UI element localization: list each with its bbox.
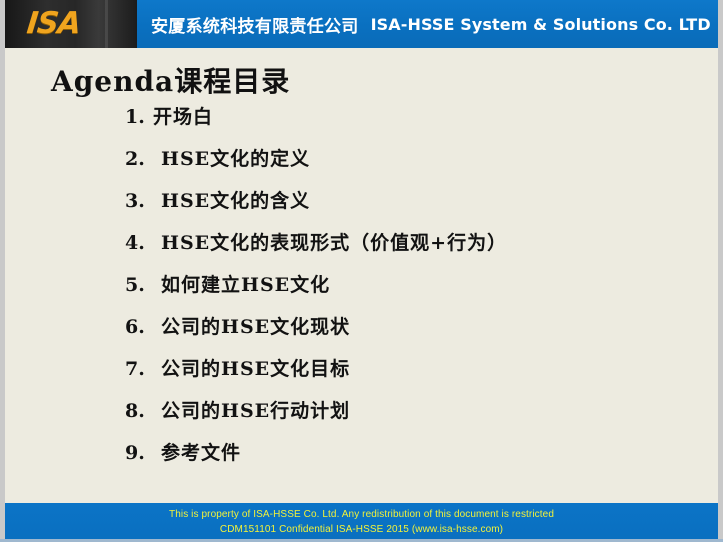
agenda-list: 1. 开场白 2. HSE文化的定义 3. HSE文化的含义 4. HSE文化的… [5, 102, 718, 480]
list-item-label: 公司的HSE行动计划 [161, 396, 350, 423]
list-item-number: 9. [125, 442, 153, 464]
slide-header: ISA 安厦系统科技有限责任公司 ISA-HSSE System & Solut… [0, 0, 723, 48]
list-item: 4. HSE文化的表现形式（价值观+行为） [5, 228, 718, 270]
list-item-number: 7. [125, 358, 153, 380]
page-title: Agenda课程目录 [51, 60, 290, 100]
isa-logo: ISA [25, 7, 82, 41]
slide-left-border [0, 0, 5, 542]
logo-panel: ISA [0, 0, 137, 48]
presentation-slide: ISA 安厦系统科技有限责任公司 ISA-HSSE System & Solut… [0, 0, 723, 542]
list-item-number: 8. [125, 400, 153, 422]
footer-document-line: CDM151101 Confidential ISA-HSSE 2015 (ww… [0, 522, 723, 537]
list-item-label: 公司的HSE文化现状 [161, 312, 350, 339]
list-item: 1. 开场白 [5, 102, 718, 144]
list-item-label: HSE文化的表现形式（价值观+行为） [161, 228, 507, 255]
list-item: 6. 公司的HSE文化现状 [5, 312, 718, 354]
company-banner: 安厦系统科技有限责任公司 ISA-HSSE System & Solutions… [137, 0, 723, 48]
list-item: 9. 参考文件 [5, 438, 718, 480]
list-item-number: 6. [125, 316, 153, 338]
list-item-label: 公司的HSE文化目标 [161, 354, 350, 381]
list-item-number: 4. [125, 232, 153, 254]
list-item-number: 1. [125, 106, 153, 128]
list-item: 7. 公司的HSE文化目标 [5, 354, 718, 396]
list-item: 3. HSE文化的含义 [5, 186, 718, 228]
list-item-number: 5. [125, 274, 153, 296]
list-item: 5. 如何建立HSE文化 [5, 270, 718, 312]
slide-footer: This is property of ISA-HSSE Co. Ltd. An… [0, 503, 723, 542]
company-name-chinese: 安厦系统科技有限责任公司 [151, 12, 359, 37]
list-item-label: HSE文化的含义 [161, 186, 310, 213]
list-item-label: 如何建立HSE文化 [161, 270, 330, 297]
company-name-english: ISA-HSSE System & Solutions Co. LTD [371, 15, 711, 34]
list-item: 8. 公司的HSE行动计划 [5, 396, 718, 438]
list-item-number: 3. [125, 190, 153, 212]
list-item-label: 开场白 [153, 102, 213, 129]
footer-copyright-line: This is property of ISA-HSSE Co. Ltd. An… [0, 507, 723, 522]
list-item-number: 2. [125, 148, 153, 170]
list-item-label: HSE文化的定义 [161, 144, 310, 171]
list-item-label: 参考文件 [161, 438, 241, 465]
list-item: 2. HSE文化的定义 [5, 144, 718, 186]
slide-body: Agenda课程目录 1. 开场白 2. HSE文化的定义 3. HSE文化的含… [5, 48, 718, 503]
slide-right-border [718, 0, 723, 542]
